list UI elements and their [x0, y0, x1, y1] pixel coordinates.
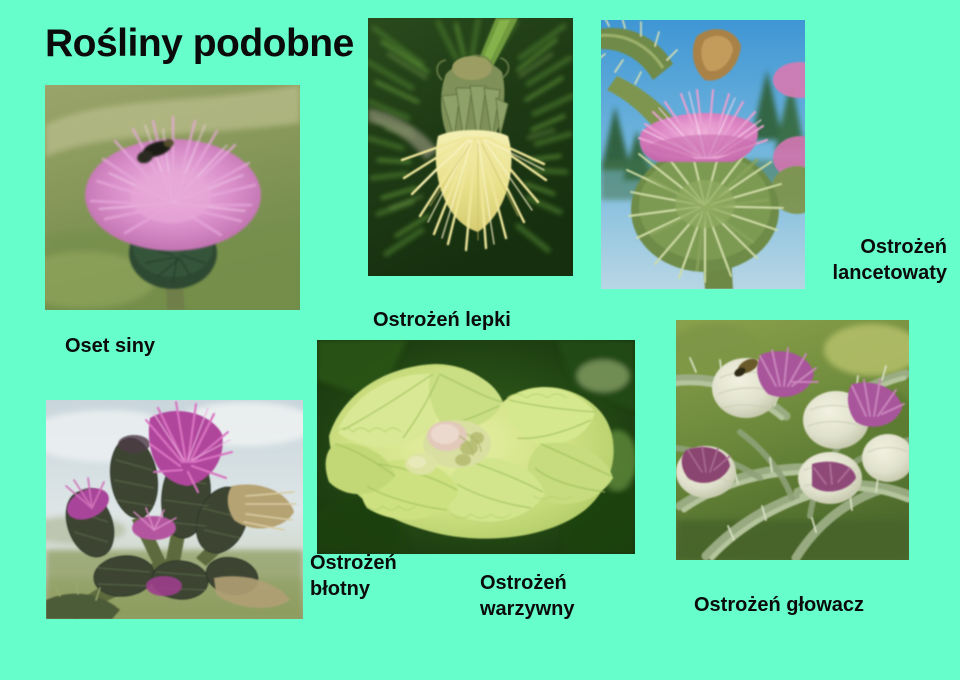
photo-ostrozen-glowacz [676, 320, 909, 560]
photo-ostrozen-lancetowaty [601, 20, 805, 289]
caption-ostrozen-blotny: Ostrożeń błotny [310, 550, 397, 603]
photo-ostrozen-lepki [368, 18, 573, 276]
photo-ostrozen-blotny [46, 400, 303, 619]
photo-oset-siny [45, 85, 300, 310]
caption-ostrozen-lancetowaty: Ostrożeń lancetowaty [833, 234, 947, 287]
photo-ostrozen-warzywny [317, 340, 635, 554]
slide-canvas: Rośliny podobne [0, 0, 960, 680]
caption-ostrozen-lepki: Ostrożeń lepki [373, 307, 511, 333]
caption-ostrozen-warzywny: Ostrożeń warzywny [480, 570, 574, 623]
caption-ostrozen-glowacz: Ostrożeń głowacz [694, 592, 864, 618]
caption-oset-siny: Oset siny [65, 333, 155, 359]
page-title: Rośliny podobne [45, 22, 354, 66]
